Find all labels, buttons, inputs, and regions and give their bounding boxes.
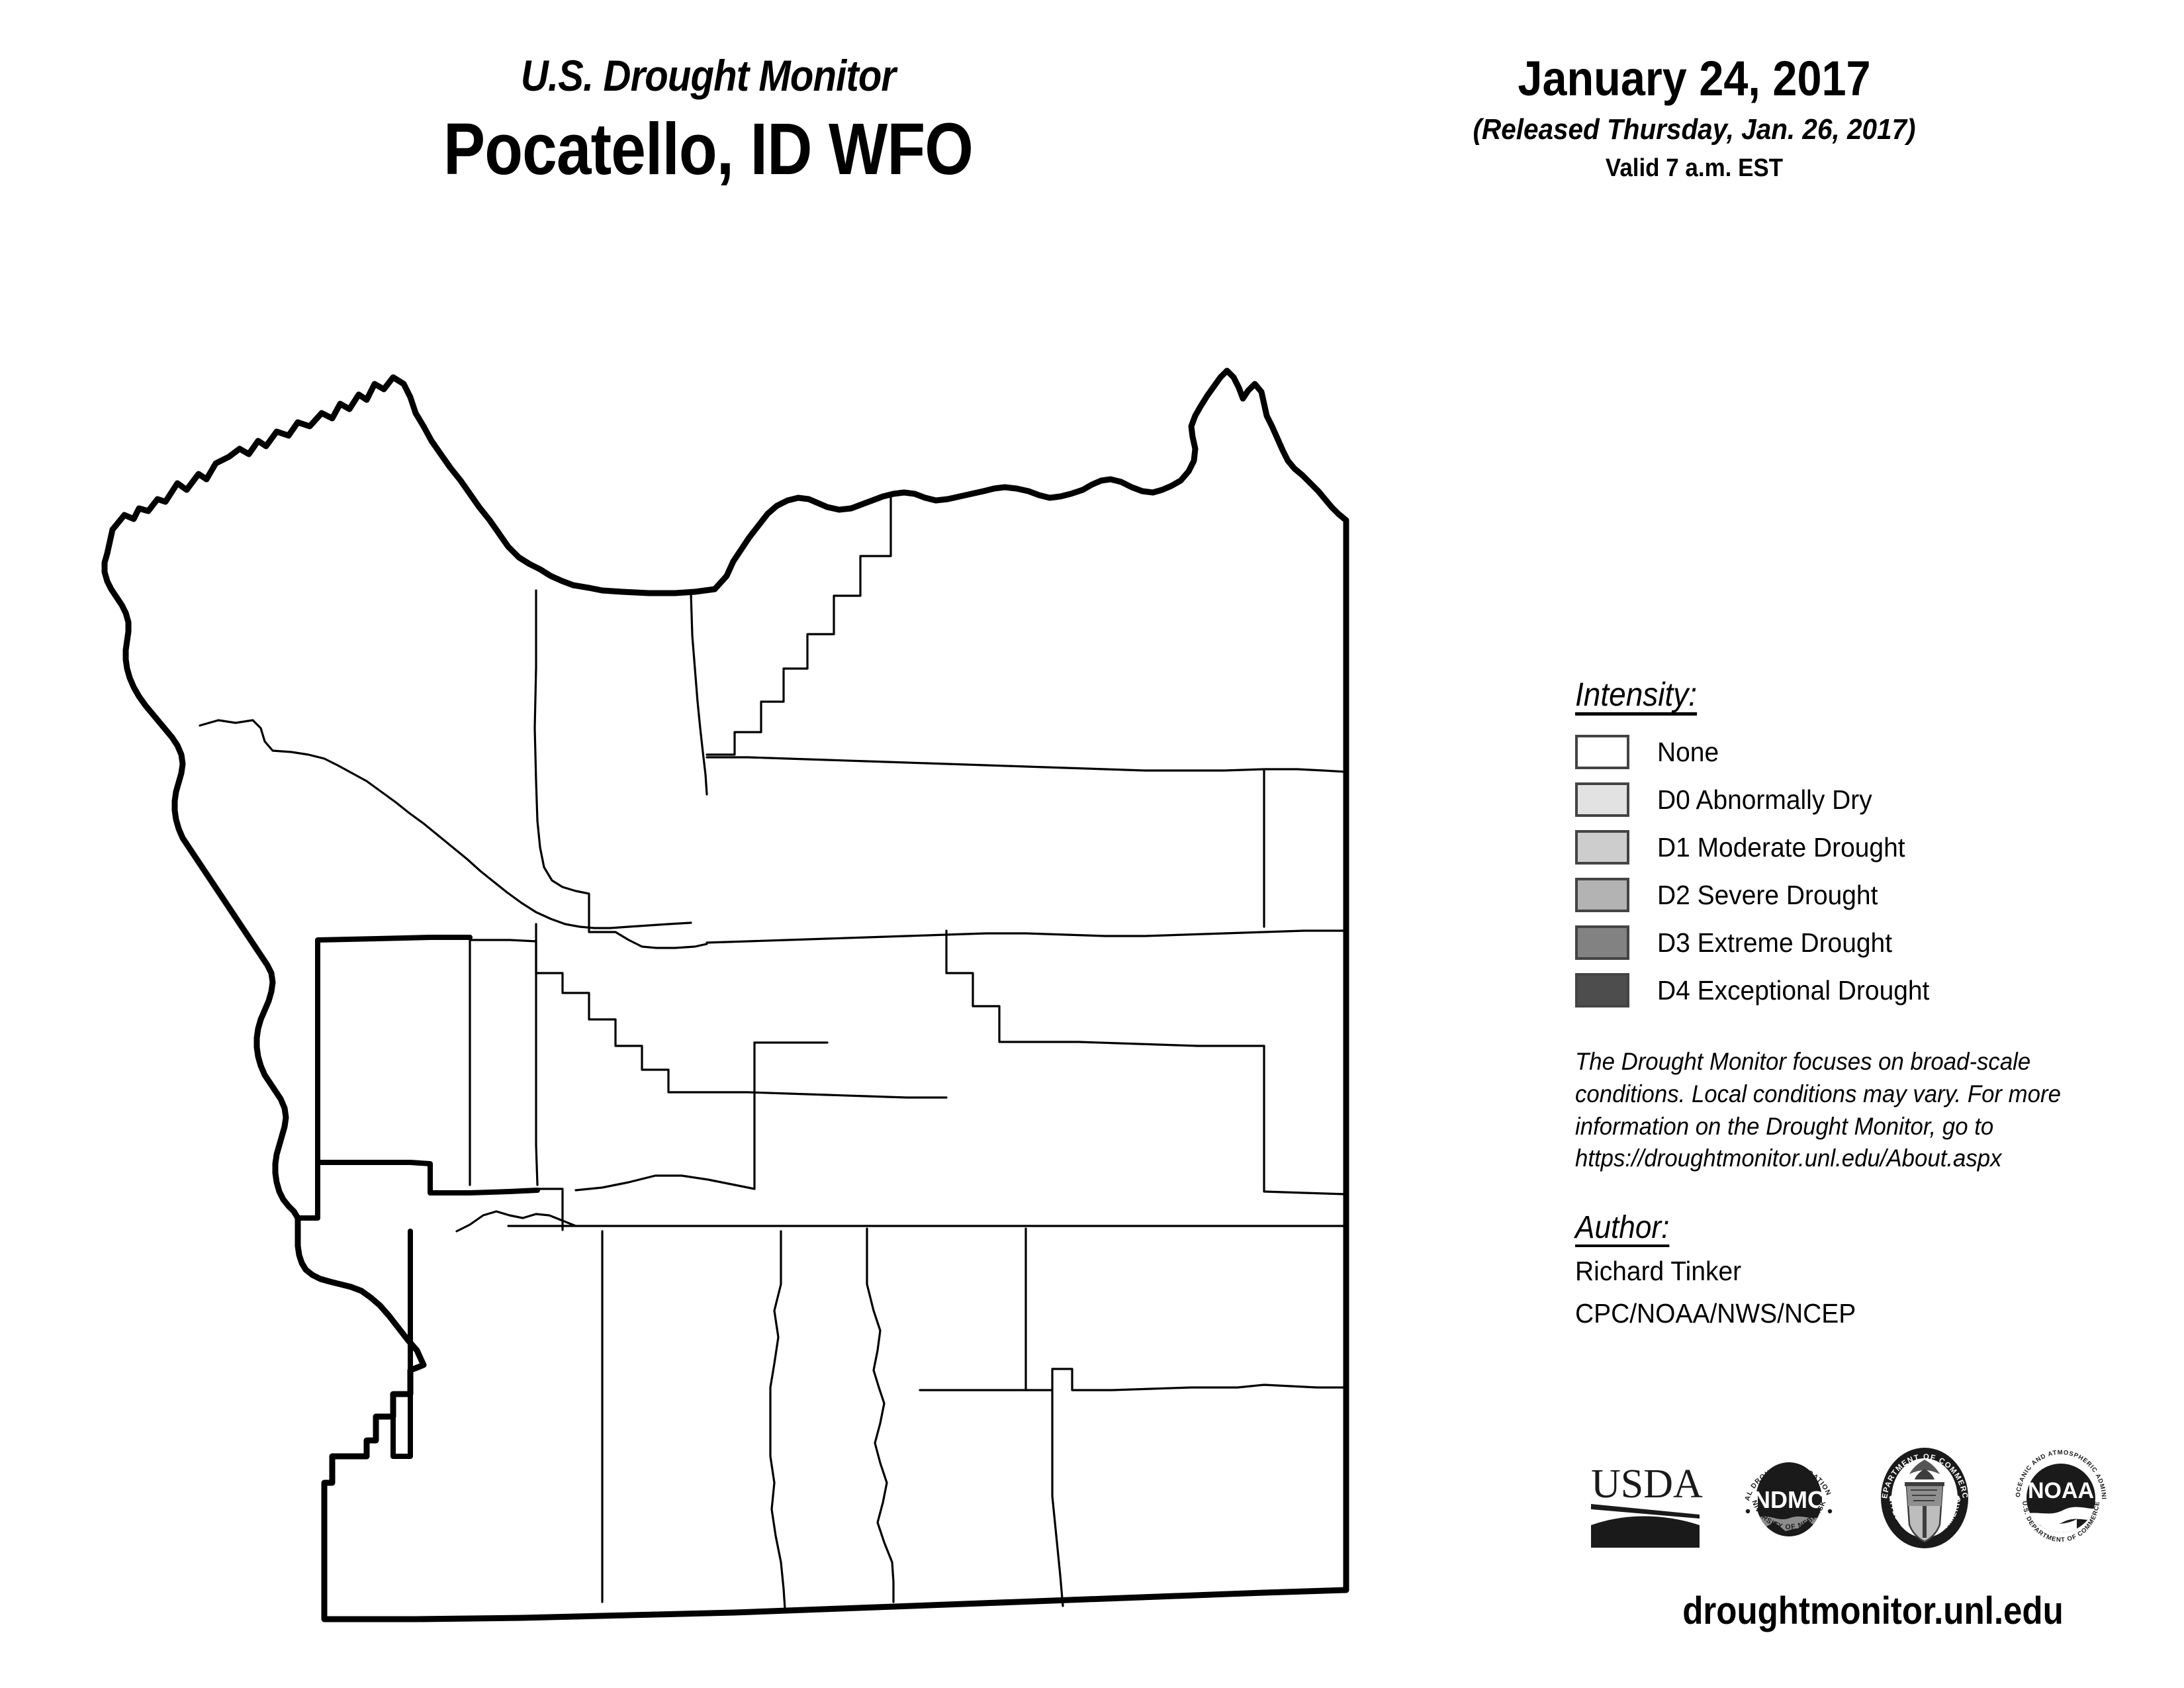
legend-label-d3: D3 Extreme Drought: [1657, 927, 1892, 959]
legend-label-d0: D0 Abnormally Dry: [1657, 784, 1872, 816]
legend-item-d3[interactable]: D3 Extreme Drought: [1575, 919, 2171, 966]
drought-map[interactable]: [99, 357, 1496, 1642]
site-url[interactable]: droughtmonitor.unl.edu: [1611, 1589, 2135, 1633]
author-heading: Author:: [1575, 1209, 1669, 1246]
page-canvas: U.S. Drought Monitor Pocatello, ID WFO J…: [0, 0, 2184, 1688]
usda-logo: USDA: [1588, 1448, 1704, 1551]
noaa-logo: NOAA NATIONAL OCEANIC AND ATMOSPHERIC AD…: [2008, 1445, 2114, 1554]
wfo-area-fill: [105, 371, 1346, 1619]
legend-item-d1[interactable]: D1 Moderate Drought: [1575, 823, 2171, 871]
page-title: Pocatello, ID WFO: [338, 109, 1078, 189]
legend-label-d1: D1 Moderate Drought: [1657, 832, 1905, 863]
legend-heading: Intensity:: [1575, 675, 1697, 714]
valid-date: January 24, 2017: [1408, 53, 1980, 105]
author-name: Richard Tinker: [1575, 1255, 2141, 1288]
product-name: U.S. Drought Monitor: [330, 53, 1087, 99]
legend-rows: None D0 Abnormally Dry D1 Moderate Droug…: [1575, 728, 2171, 1014]
legend-swatch-d3: [1575, 925, 1629, 960]
legend-swatch-d1: [1575, 830, 1629, 865]
legend-item-d2[interactable]: D2 Severe Drought: [1575, 871, 2171, 919]
author-affiliation: CPC/NOAA/NWS/NCEP: [1575, 1297, 2141, 1330]
valid-time: Valid 7 a.m. EST: [1402, 155, 1986, 183]
svg-text:NOAA: NOAA: [2028, 1478, 2094, 1503]
legend-label-d2: D2 Severe Drought: [1657, 880, 1878, 911]
legend-swatch-none: [1575, 735, 1629, 769]
legend-item-none[interactable]: None: [1575, 728, 2171, 776]
legend-item-d4[interactable]: D4 Exceptional Drought: [1575, 966, 2171, 1014]
ndmc-logo: NDMC NATIONAL DROUGHT MITIGATION CENTER …: [1736, 1445, 1842, 1554]
legend-panel: Intensity: None D0 Abnormally Dry D1 Mod…: [1575, 675, 2171, 1330]
legend-label-d4: D4 Exceptional Drought: [1657, 975, 1929, 1006]
legend-item-d0[interactable]: D0 Abnormally Dry: [1575, 776, 2171, 823]
title-block: U.S. Drought Monitor Pocatello, ID WFO: [278, 53, 1138, 189]
map-svg: [99, 357, 1496, 1642]
legend-label-none: None: [1657, 737, 1719, 768]
svg-text:USDA: USDA: [1591, 1462, 1703, 1507]
legend-swatch-d2: [1575, 878, 1629, 912]
disclaimer-text: The Drought Monitor focuses on broad-sca…: [1575, 1046, 2122, 1175]
logo-row: USDA NDMC NATIONAL DROUGH: [1588, 1436, 2144, 1562]
date-block: January 24, 2017 (Released Thursday, Jan…: [1377, 53, 2012, 183]
release-date: (Released Thursday, Jan. 26, 2017): [1402, 114, 1986, 146]
commerce-logo: DEPARTMENT OF COMMERCE UNITED STATES OF …: [1874, 1445, 1976, 1554]
svg-text:NDMC: NDMC: [1753, 1486, 1825, 1513]
legend-swatch-d0: [1575, 782, 1629, 817]
header: U.S. Drought Monitor Pocatello, ID WFO J…: [0, 0, 2184, 265]
legend-swatch-d4: [1575, 973, 1629, 1008]
